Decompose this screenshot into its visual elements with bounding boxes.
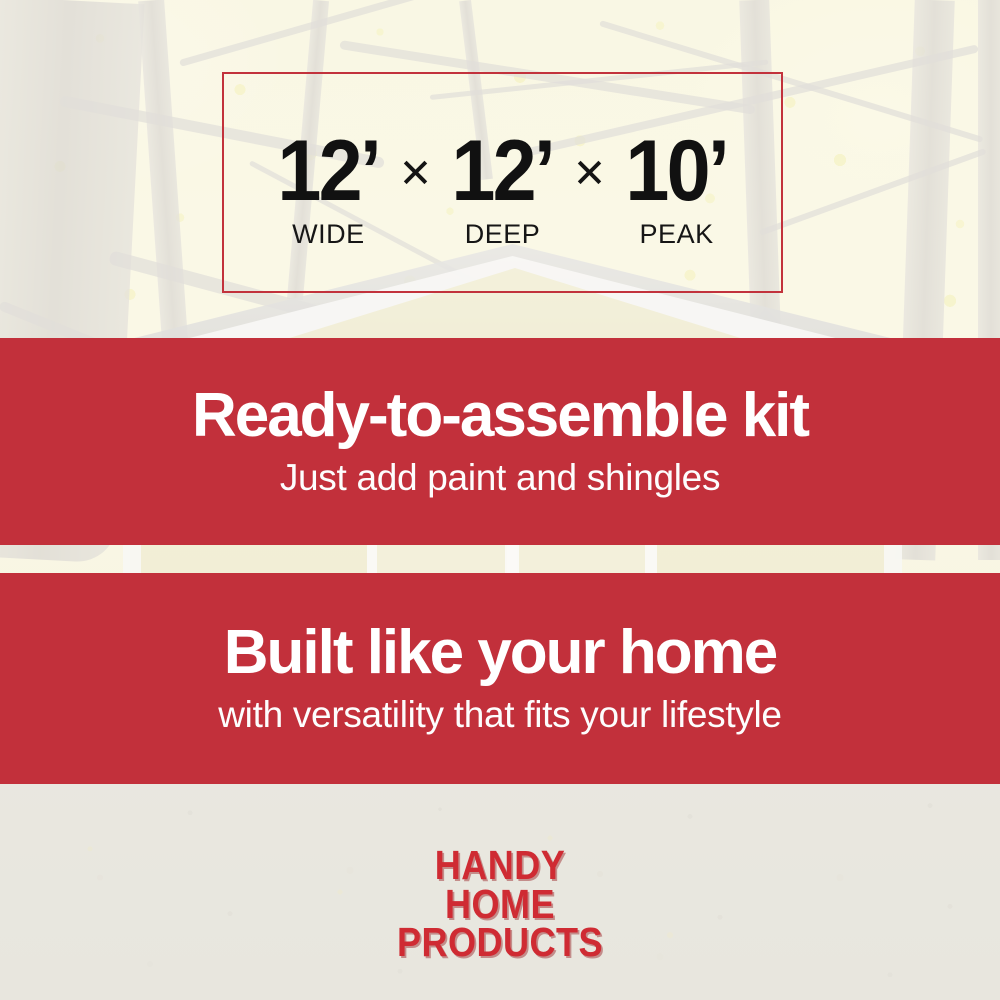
dimension-depth: 12’ DEEP [447,132,558,250]
peak-label: PEAK [621,219,732,250]
width-label: WIDE [273,219,384,250]
banner-1-headline: Ready-to-assemble kit [192,384,808,447]
logo-line-products: PRODUCTS [60,923,940,962]
banner-1-subhead: Just add paint and shingles [280,457,720,499]
width-value: 12’ [278,132,380,211]
feature-banner-ready-to-assemble: Ready-to-assemble kit Just add paint and… [0,338,1000,545]
dimensions-callout-box: 12’ WIDE ✕ 12’ DEEP ✕ 10’ PEAK [222,72,783,293]
banner-2-headline: Built like your home [224,621,777,684]
dimension-peak: 10’ PEAK [621,132,732,250]
product-feature-poster: 12’ WIDE ✕ 12’ DEEP ✕ 10’ PEAK Ready-to-… [0,0,1000,1000]
brand-logo: HANDY HOME PRODUCTS [0,846,1000,962]
banner-2-subhead: with versatility that fits your lifestyl… [218,694,781,736]
depth-label: DEEP [447,219,558,250]
peak-value: 10’ [626,132,728,211]
dimensions-row: 12’ WIDE ✕ 12’ DEEP ✕ 10’ PEAK [224,132,781,250]
logo-line-home: HOME [60,885,940,924]
logo-line-handy: HANDY [60,846,940,885]
multiply-icon: ✕ [573,154,607,194]
multiply-icon: ✕ [399,154,433,194]
depth-value: 12’ [452,132,554,211]
dimension-width: 12’ WIDE [273,132,384,250]
feature-banner-built-like-your-home: Built like your home with versatility th… [0,573,1000,784]
